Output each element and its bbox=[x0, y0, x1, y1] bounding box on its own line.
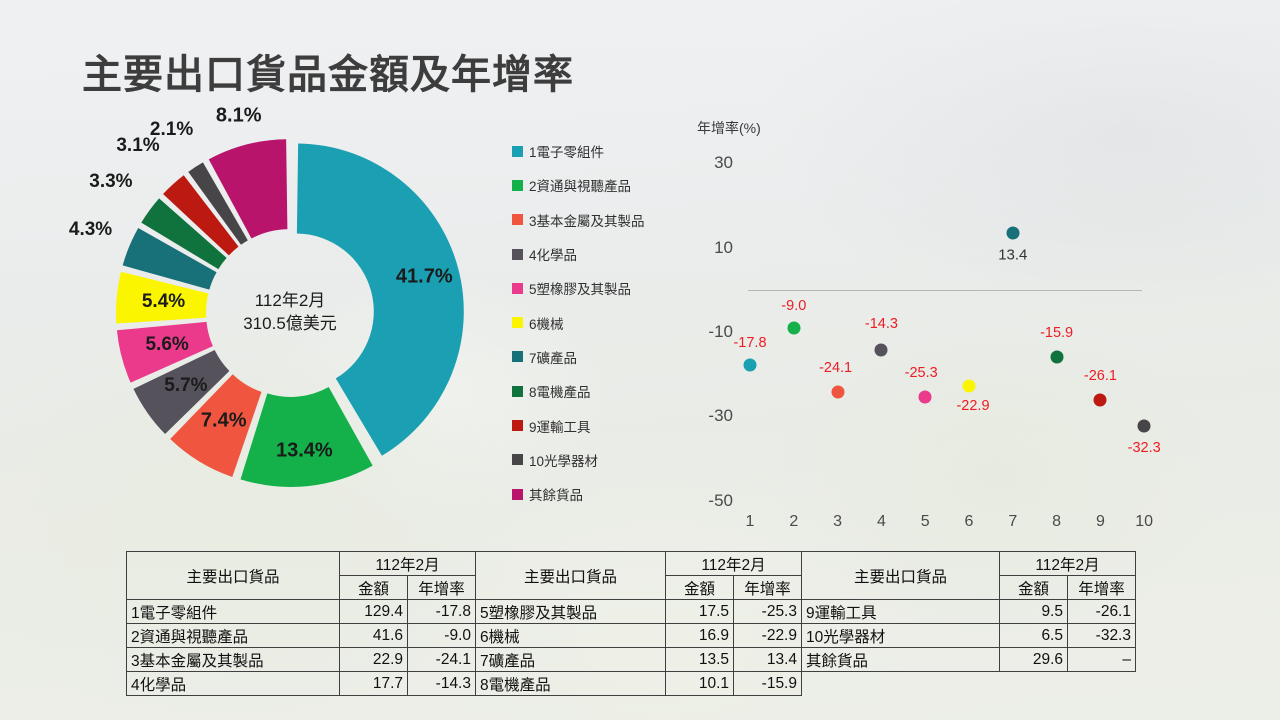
scatter-x-tick: 3 bbox=[823, 513, 853, 531]
legend-item-10[interactable]: 10光學器材 bbox=[512, 443, 692, 477]
scatter-x-tick: 4 bbox=[866, 513, 896, 531]
scatter-point-1[interactable] bbox=[744, 358, 757, 371]
legend-item-4[interactable]: 4化學品 bbox=[512, 237, 692, 271]
table-cell-name: 9運輸工具 bbox=[802, 600, 1000, 624]
scatter-point-label-4: -14.3 bbox=[865, 316, 898, 332]
legend-item-6[interactable]: 6機械 bbox=[512, 305, 692, 339]
legend-item-label: 7礦產品 bbox=[529, 347, 577, 367]
legend-swatch-icon bbox=[512, 146, 523, 157]
table-cell-amount: 17.5 bbox=[666, 600, 734, 624]
legend-swatch-icon bbox=[512, 386, 523, 397]
scatter-point-label-1: -17.8 bbox=[733, 335, 766, 351]
table-header-period: 112年2月 bbox=[666, 552, 802, 576]
table-header-growth: 年增率 bbox=[734, 576, 802, 600]
legend-item-7[interactable]: 7礦產品 bbox=[512, 340, 692, 374]
donut-slice-label: 4.3% bbox=[69, 219, 112, 241]
table-cell-growth: -25.3 bbox=[734, 600, 802, 624]
table-cell-amount: 13.5 bbox=[666, 648, 734, 672]
table-cell-name: 8電機產品 bbox=[476, 672, 666, 696]
legend-item-label: 9運輸工具 bbox=[529, 416, 591, 436]
chart-legend: 1電子零組件2資通與視聽產品3基本金屬及其製品4化學品5塑橡膠及其製品6機械7礦… bbox=[512, 134, 692, 511]
donut-chart: 112年2月 310.5億美元 41.7%13.4%7.4%5.7%5.6%5.… bbox=[95, 118, 485, 508]
scatter-point-2[interactable] bbox=[787, 321, 800, 334]
scatter-x-tick: 5 bbox=[910, 513, 940, 531]
scatter-x-tick: 2 bbox=[779, 513, 809, 531]
table-cell-growth: 13.4 bbox=[734, 648, 802, 672]
legend-swatch-icon bbox=[512, 214, 523, 225]
table-cell-growth: -14.3 bbox=[408, 672, 476, 696]
table-cell-amount: 10.1 bbox=[666, 672, 734, 696]
table-cell-growth: -17.8 bbox=[408, 600, 476, 624]
scatter-x-tick: 9 bbox=[1085, 513, 1115, 531]
scatter-point-4[interactable] bbox=[875, 344, 888, 357]
table-cell-amount: 29.6 bbox=[1000, 648, 1068, 672]
table-header-name: 主要出口貨品 bbox=[127, 552, 340, 600]
legend-item-label: 2資通與視聽產品 bbox=[529, 175, 631, 195]
scatter-x-tick: 7 bbox=[998, 513, 1028, 531]
page-title: 主要出口貨品金額及年增率 bbox=[82, 42, 574, 100]
legend-item-8[interactable]: 8電機產品 bbox=[512, 374, 692, 408]
table-row: 1電子零組件129.4-17.8 bbox=[127, 600, 476, 624]
legend-swatch-icon bbox=[512, 351, 523, 362]
table-header-name: 主要出口貨品 bbox=[476, 552, 666, 600]
legend-item-label: 1電子零組件 bbox=[529, 141, 604, 161]
donut-slice-label: 2.1% bbox=[150, 119, 193, 141]
scatter-point-label-2: -9.0 bbox=[781, 298, 806, 314]
legend-swatch-icon bbox=[512, 489, 523, 500]
scatter-y-tick: 30 bbox=[685, 153, 733, 173]
legend-item-11[interactable]: 其餘貨品 bbox=[512, 477, 692, 511]
data-table-area: 主要出口貨品112年2月金額年增率1電子零組件129.4-17.82資通與視聽產… bbox=[126, 551, 1161, 699]
legend-item-label: 5塑橡膠及其製品 bbox=[529, 278, 631, 298]
table-cell-name: 10光學器材 bbox=[802, 624, 1000, 648]
legend-item-9[interactable]: 9運輸工具 bbox=[512, 408, 692, 442]
legend-swatch-icon bbox=[512, 317, 523, 328]
scatter-x-tick: 8 bbox=[1042, 513, 1072, 531]
scatter-point-10[interactable] bbox=[1138, 420, 1151, 433]
scatter-chart: 年增率(%) 3010-10-30-5012345678910-17.8-9.0… bbox=[690, 110, 1160, 530]
donut-slice-label: 13.4% bbox=[276, 440, 333, 463]
legend-item-label: 3基本金屬及其製品 bbox=[529, 210, 645, 230]
scatter-point-7[interactable] bbox=[1006, 227, 1019, 240]
table-header-amount: 金額 bbox=[1000, 576, 1068, 600]
scatter-point-label-10: -32.3 bbox=[1128, 440, 1161, 456]
donut-slice-label: 41.7% bbox=[396, 265, 453, 288]
scatter-y-tick: -30 bbox=[685, 406, 733, 426]
scatter-point-label-9: -26.1 bbox=[1084, 368, 1117, 384]
table-header-amount: 金額 bbox=[340, 576, 408, 600]
legend-swatch-icon bbox=[512, 420, 523, 431]
scatter-point-8[interactable] bbox=[1050, 350, 1063, 363]
donut-slice-label: 5.6% bbox=[145, 334, 188, 356]
legend-item-label: 6機械 bbox=[529, 313, 564, 333]
table-cell-name: 5塑橡膠及其製品 bbox=[476, 600, 666, 624]
table-cell-growth: -26.1 bbox=[1068, 600, 1136, 624]
legend-item-3[interactable]: 3基本金屬及其製品 bbox=[512, 203, 692, 237]
scatter-point-label-5: -25.3 bbox=[905, 365, 938, 381]
scatter-point-5[interactable] bbox=[919, 390, 932, 403]
legend-swatch-icon bbox=[512, 249, 523, 260]
donut-slice-label: 5.4% bbox=[142, 291, 185, 313]
scatter-x-tick: 10 bbox=[1129, 513, 1159, 531]
table-cell-growth: -32.3 bbox=[1068, 624, 1136, 648]
table-header-name: 主要出口貨品 bbox=[802, 552, 1000, 600]
donut-slice-label: 8.1% bbox=[216, 104, 262, 127]
export-goods-table: 主要出口貨品112年2月金額年增率5塑橡膠及其製品17.5-25.36機械16.… bbox=[475, 551, 802, 696]
legend-item-1[interactable]: 1電子零組件 bbox=[512, 134, 692, 168]
scatter-y-tick: -10 bbox=[685, 322, 733, 342]
table-row: 9運輸工具9.5-26.1 bbox=[802, 600, 1136, 624]
table-cell-name: 其餘貨品 bbox=[802, 648, 1000, 672]
legend-item-5[interactable]: 5塑橡膠及其製品 bbox=[512, 271, 692, 305]
table-header-period: 112年2月 bbox=[340, 552, 476, 576]
scatter-point-label-3: -24.1 bbox=[819, 360, 852, 376]
table-cell-amount: 22.9 bbox=[340, 648, 408, 672]
scatter-x-tick: 1 bbox=[735, 513, 765, 531]
table-cell-growth: -22.9 bbox=[734, 624, 802, 648]
table-row: 其餘貨品29.6– bbox=[802, 648, 1136, 672]
table-cell-name: 3基本金屬及其製品 bbox=[127, 648, 340, 672]
legend-item-2[interactable]: 2資通與視聽產品 bbox=[512, 168, 692, 202]
table-cell-amount: 17.7 bbox=[340, 672, 408, 696]
table-cell-growth: -15.9 bbox=[734, 672, 802, 696]
legend-item-label: 其餘貨品 bbox=[529, 484, 583, 504]
legend-swatch-icon bbox=[512, 180, 523, 191]
table-row: 6機械16.9-22.9 bbox=[476, 624, 802, 648]
table-row: 8電機產品10.1-15.9 bbox=[476, 672, 802, 696]
table-cell-growth: -9.0 bbox=[408, 624, 476, 648]
scatter-point-label-7: 13.4 bbox=[998, 247, 1027, 264]
table-row: 3基本金屬及其製品22.9-24.1 bbox=[127, 648, 476, 672]
scatter-point-6[interactable] bbox=[963, 380, 976, 393]
zero-gridline bbox=[748, 290, 1142, 291]
scatter-point-9[interactable] bbox=[1094, 393, 1107, 406]
table-cell-growth: -24.1 bbox=[408, 648, 476, 672]
table-cell-amount: 9.5 bbox=[1000, 600, 1068, 624]
table-cell-amount: 6.5 bbox=[1000, 624, 1068, 648]
table-cell-name: 6機械 bbox=[476, 624, 666, 648]
scatter-axis-title: 年增率(%) bbox=[697, 118, 761, 138]
table-row: 5塑橡膠及其製品17.5-25.3 bbox=[476, 600, 802, 624]
table-cell-name: 4化學品 bbox=[127, 672, 340, 696]
scatter-point-label-8: -15.9 bbox=[1040, 325, 1073, 341]
legend-swatch-icon bbox=[512, 283, 523, 294]
table-row: 2資通與視聽產品41.6-9.0 bbox=[127, 624, 476, 648]
donut-slice-label: 3.3% bbox=[89, 171, 132, 193]
table-header-amount: 金額 bbox=[666, 576, 734, 600]
table-cell-name: 2資通與視聽產品 bbox=[127, 624, 340, 648]
table-cell-name: 7礦產品 bbox=[476, 648, 666, 672]
table-cell-growth: – bbox=[1068, 648, 1136, 672]
table-cell-amount: 41.6 bbox=[340, 624, 408, 648]
scatter-y-tick: -50 bbox=[685, 491, 733, 511]
legend-item-label: 8電機產品 bbox=[529, 381, 591, 401]
export-goods-table: 主要出口貨品112年2月金額年增率9運輸工具9.5-26.110光學器材6.5-… bbox=[801, 551, 1136, 672]
table-row: 4化學品17.7-14.3 bbox=[127, 672, 476, 696]
scatter-point-3[interactable] bbox=[831, 385, 844, 398]
table-header-growth: 年增率 bbox=[408, 576, 476, 600]
table-row: 10光學器材6.5-32.3 bbox=[802, 624, 1136, 648]
donut-slice-label: 5.7% bbox=[164, 375, 207, 397]
scatter-y-tick: 10 bbox=[685, 238, 733, 258]
scatter-x-tick: 6 bbox=[954, 513, 984, 531]
table-cell-amount: 129.4 bbox=[340, 600, 408, 624]
table-cell-name: 1電子零組件 bbox=[127, 600, 340, 624]
table-cell-amount: 16.9 bbox=[666, 624, 734, 648]
table-header-growth: 年增率 bbox=[1068, 576, 1136, 600]
table-header-period: 112年2月 bbox=[1000, 552, 1136, 576]
scatter-point-label-6: -22.9 bbox=[956, 398, 989, 414]
export-goods-table: 主要出口貨品112年2月金額年增率1電子零組件129.4-17.82資通與視聽產… bbox=[126, 551, 476, 696]
table-row: 7礦產品13.513.4 bbox=[476, 648, 802, 672]
legend-item-label: 4化學品 bbox=[529, 244, 577, 264]
donut-slice-label: 7.4% bbox=[201, 410, 247, 433]
legend-item-label: 10光學器材 bbox=[529, 450, 598, 470]
legend-swatch-icon bbox=[512, 454, 523, 465]
